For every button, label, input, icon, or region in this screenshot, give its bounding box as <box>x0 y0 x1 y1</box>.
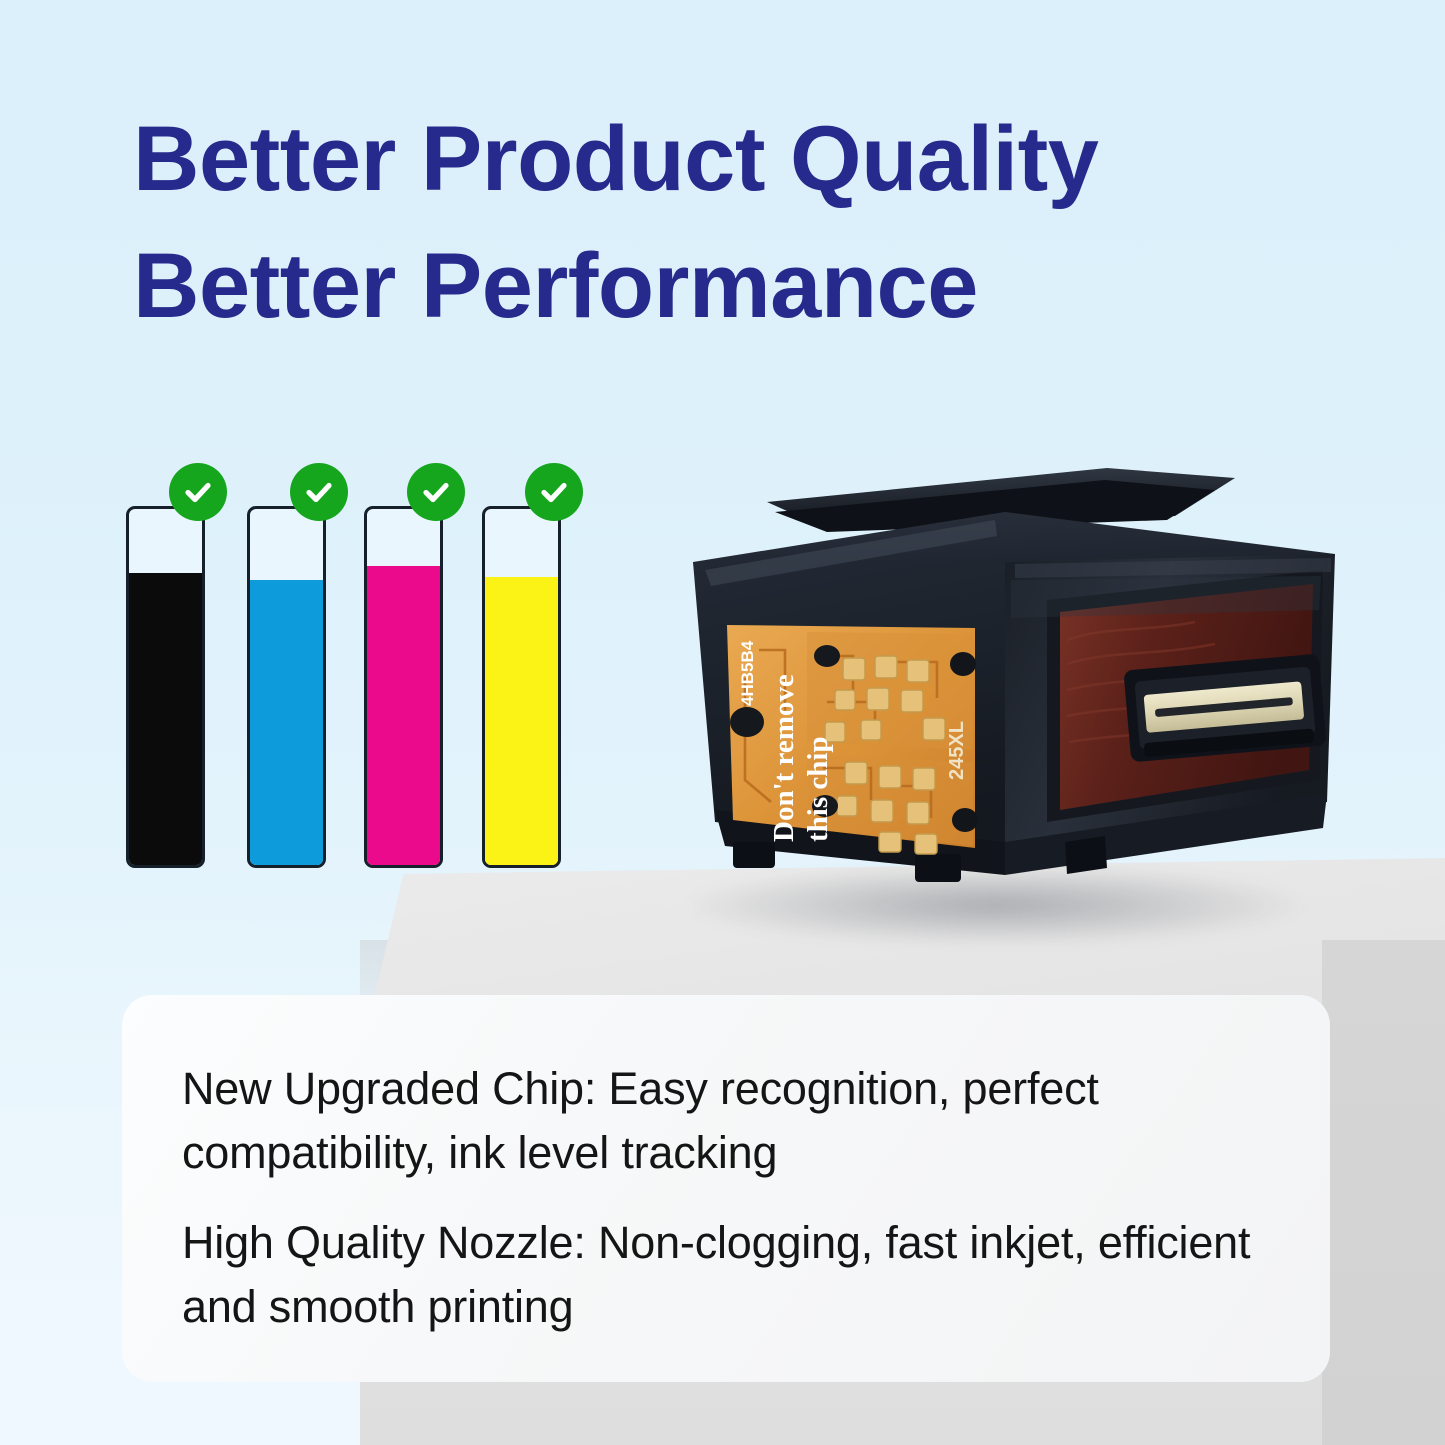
ink-fill-magenta <box>367 566 440 865</box>
cartridge-illustration: Don't remove this chip 4HB5B4 245XL <box>675 450 1335 905</box>
pedestal-side-face <box>1322 940 1445 1445</box>
feature-info-card: New Upgraded Chip: Easy recognition, per… <box>122 995 1330 1382</box>
ink-fill-yellow <box>485 577 558 865</box>
chip-model-label: 245XL <box>946 721 968 780</box>
check-circle-icon-magenta <box>407 463 465 521</box>
check-circle-icon-cyan <box>290 463 348 521</box>
ink-fill-cyan <box>250 580 323 865</box>
feature-bullet-chip: New Upgraded Chip: Easy recognition, per… <box>182 1057 1270 1185</box>
product-image-cartridge: Don't remove this chip 4HB5B4 245XL <box>645 395 1365 965</box>
ink-bar-black <box>126 506 205 868</box>
chip-warning-line2: this chip <box>802 736 834 842</box>
ink-bar-cyan <box>247 506 326 868</box>
ink-fill-black <box>129 573 202 865</box>
page-title: Better Product Quality Better Performanc… <box>133 96 1333 350</box>
chip-warning-line1: Don't remove <box>768 674 800 842</box>
product-feature-banner: Better Product Quality Better Performanc… <box>0 0 1445 1445</box>
ink-bar-yellow <box>482 506 561 868</box>
check-circle-icon-black <box>169 463 227 521</box>
ink-bar-magenta <box>364 506 443 868</box>
chip-code-label: 4HB5B4 <box>738 640 757 706</box>
feature-bullet-nozzle: High Quality Nozzle: Non-clogging, fast … <box>182 1211 1270 1339</box>
check-circle-icon-yellow <box>525 463 583 521</box>
